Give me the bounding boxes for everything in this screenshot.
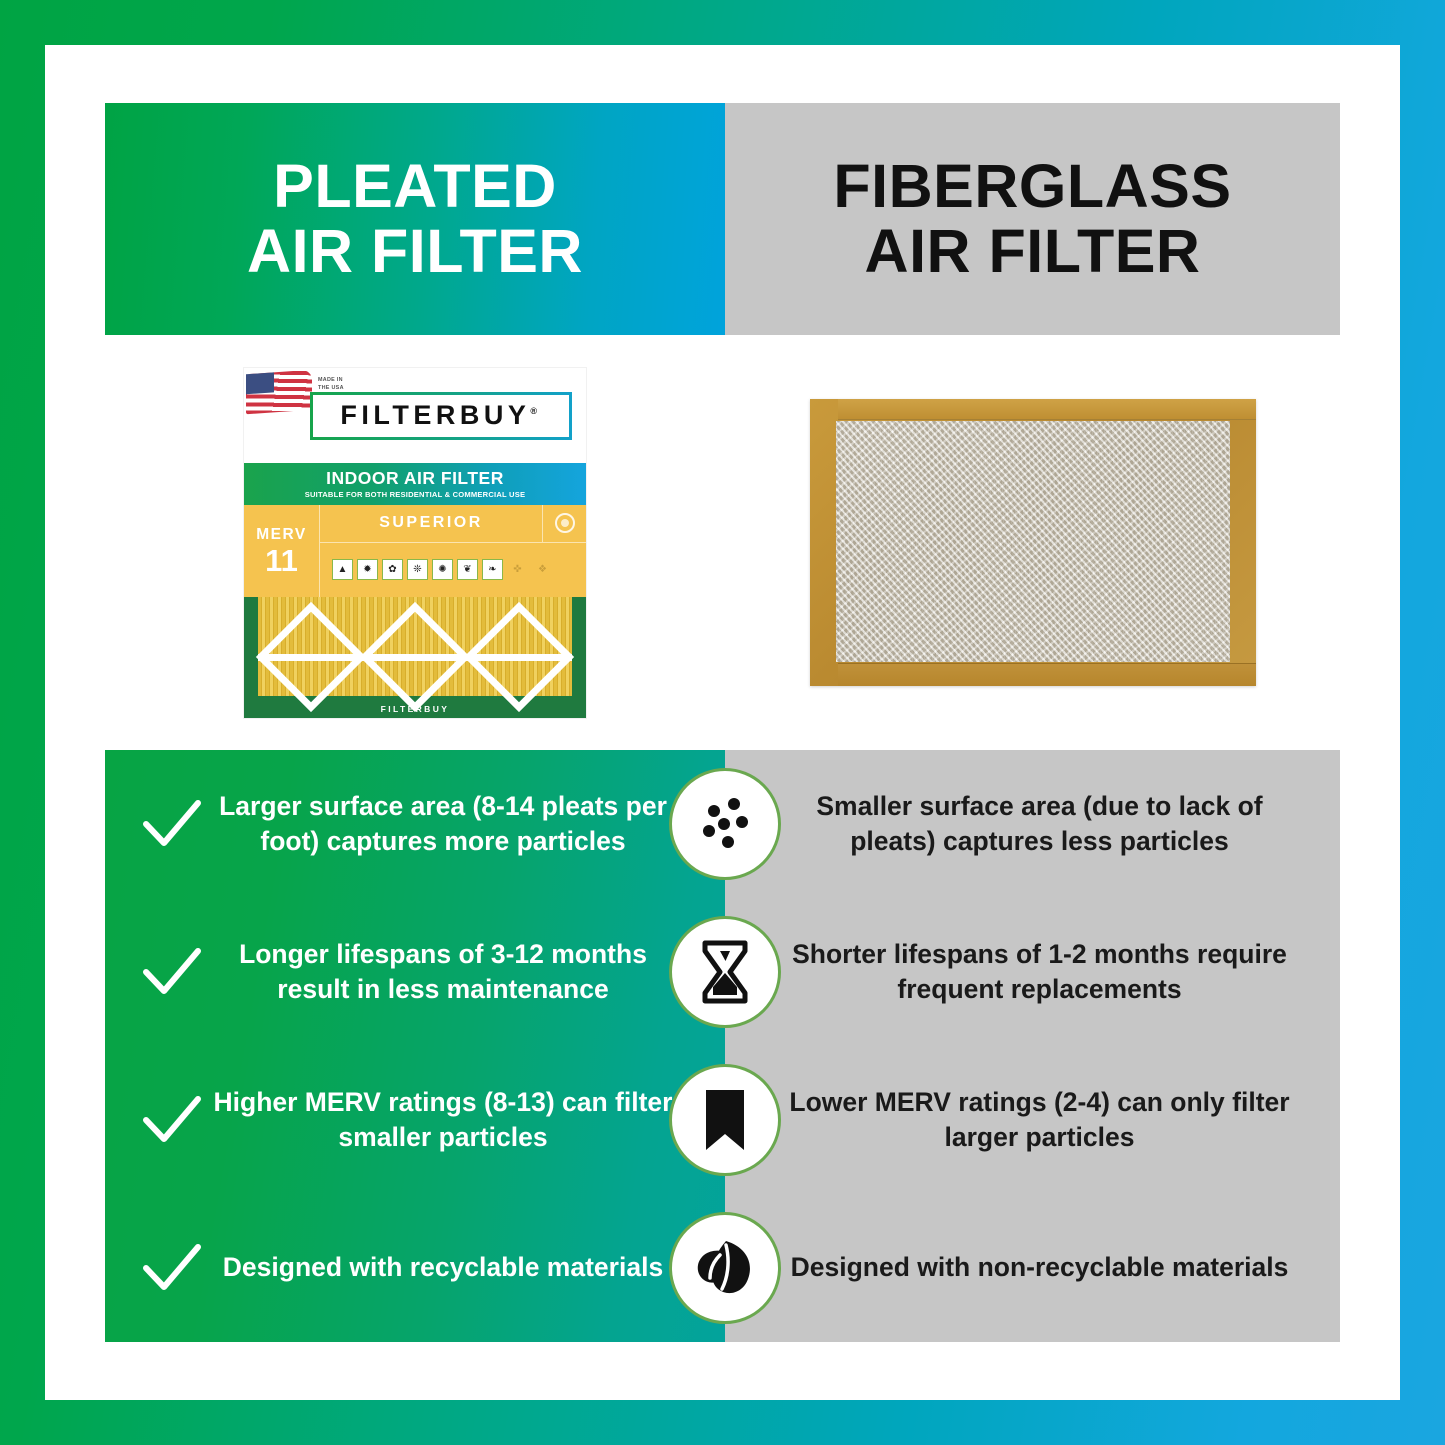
comparison-row: Higher MERV ratings (8-13) can filter sm… <box>105 1046 1340 1194</box>
product-image-band: MADE INTHE USA FILTERBUY® INDOOR AIR FIL… <box>105 335 1340 750</box>
header-fiberglass-panel: FIBERGLASSAIR FILTER <box>725 103 1340 335</box>
indoor-air-filter-banner: INDOOR AIR FILTER SUITABLE FOR BOTH RESI… <box>244 463 586 505</box>
row-right-text: Designed with non-recyclable materials <box>725 1250 1340 1285</box>
comparison-rows: Larger surface area (8-14 pleats per foo… <box>105 750 1340 1342</box>
merv-value: 11 <box>265 546 298 575</box>
checkmark-icon <box>135 1094 209 1146</box>
tier-label: SUPERIOR <box>320 514 542 532</box>
header-fiberglass-title: FIBERGLASSAIR FILTER <box>833 154 1231 283</box>
insect-icon: ✹ <box>357 559 378 580</box>
pollen-icon: ❊ <box>407 559 428 580</box>
box-top-section: MADE INTHE USA FILTERBUY® <box>244 368 586 463</box>
brand-name: FILTERBUY® <box>340 400 541 431</box>
dust-icon: ▲ <box>332 559 353 580</box>
usa-flag-icon <box>246 369 312 414</box>
infographic-page: PLEATEDAIR FILTER FIBERGLASSAIR FILTER M… <box>0 0 1445 1445</box>
comparison-row: Longer lifespans of 3-12 months result i… <box>105 898 1340 1046</box>
hourglass-icon <box>669 916 781 1028</box>
cardboard-frame-bottom <box>838 663 1256 686</box>
brand-text: FILTERBUY <box>340 400 530 430</box>
cardboard-frame-top <box>838 399 1256 420</box>
row-left-cell: Higher MERV ratings (8-13) can filter sm… <box>105 1085 725 1155</box>
odor-icon-faded: ❖ <box>532 559 553 580</box>
row-left-cell: Longer lifespans of 3-12 months result i… <box>105 937 725 1007</box>
fiberglass-mesh-texture <box>836 421 1230 662</box>
row-right-text: Smaller surface area (due to lack of ple… <box>725 789 1340 859</box>
row-left-cell: Designed with recyclable materials <box>105 1242 725 1294</box>
merv-right-block: SUPERIOR ▲ ✹ ✿ ❊ ✺ ❦ ❧ ✜ <box>320 505 586 597</box>
comparison-block: Larger surface area (8-14 pleats per foo… <box>105 750 1340 1342</box>
header-pleated-title: PLEATEDAIR FILTER <box>247 154 583 283</box>
white-card: PLEATEDAIR FILTER FIBERGLASSAIR FILTER M… <box>45 45 1400 1400</box>
leaf-icon <box>669 1212 781 1324</box>
pleated-product-container: MADE INTHE USA FILTERBUY® INDOOR AIR FIL… <box>105 335 725 750</box>
capture-icons-row: ▲ ✹ ✿ ❊ ✺ ❦ ❧ ✜ ❖ <box>320 543 586 597</box>
pleated-filter-box-image: MADE INTHE USA FILTERBUY® INDOOR AIR FIL… <box>244 368 586 718</box>
bookmark-icon <box>669 1064 781 1176</box>
particles-icon <box>669 768 781 880</box>
checkmark-icon <box>135 946 209 998</box>
mold-spore-icon: ✿ <box>382 559 403 580</box>
support-bar-horizontal <box>258 654 572 661</box>
virus-icon-faded: ✜ <box>507 559 528 580</box>
checkmark-icon <box>135 1242 209 1294</box>
comparison-row: Designed with recyclable materials <box>105 1194 1340 1342</box>
certification-seal-icon <box>542 505 586 542</box>
row-left-text: Longer lifespans of 3-12 months result i… <box>209 937 725 1007</box>
pet-dander-icon: ❦ <box>457 559 478 580</box>
row-right-text: Lower MERV ratings (2-4) can only filter… <box>725 1085 1340 1155</box>
box-footer-brand: FILTERBUY <box>244 704 586 714</box>
brand-trademark: ® <box>530 406 541 416</box>
row-left-text: Designed with recyclable materials <box>209 1250 725 1285</box>
bacteria-icon: ✺ <box>432 559 453 580</box>
banner-line-1: INDOOR AIR FILTER <box>326 468 504 489</box>
row-left-text: Larger surface area (8-14 pleats per foo… <box>209 789 725 859</box>
row-left-text: Higher MERV ratings (8-13) can filter sm… <box>209 1085 725 1155</box>
row-right-text: Shorter lifespans of 1-2 months require … <box>725 937 1340 1007</box>
brand-frame: FILTERBUY® <box>310 392 572 440</box>
header-row: PLEATEDAIR FILTER FIBERGLASSAIR FILTER <box>105 103 1340 335</box>
tier-row: SUPERIOR <box>320 505 586 543</box>
fiberglass-product-container <box>725 335 1340 750</box>
merv-label: MERV <box>256 526 307 544</box>
merv-section: MERV 11 SUPERIOR ▲ ✹ ✿ <box>244 505 586 597</box>
pleated-media-section: FILTERBUY <box>244 597 586 718</box>
row-left-cell: Larger surface area (8-14 pleats per foo… <box>105 789 725 859</box>
smoke-icon: ❧ <box>482 559 503 580</box>
fiberglass-filter-image <box>810 399 1256 686</box>
banner-line-2: SUITABLE FOR BOTH RESIDENTIAL & COMMERCI… <box>305 490 526 499</box>
made-in-usa-label: MADE INTHE USA <box>318 376 344 392</box>
merv-block: MERV 11 <box>244 505 320 597</box>
comparison-row: Larger surface area (8-14 pleats per foo… <box>105 750 1340 898</box>
checkmark-icon <box>135 798 209 850</box>
header-pleated-panel: PLEATEDAIR FILTER <box>105 103 725 335</box>
